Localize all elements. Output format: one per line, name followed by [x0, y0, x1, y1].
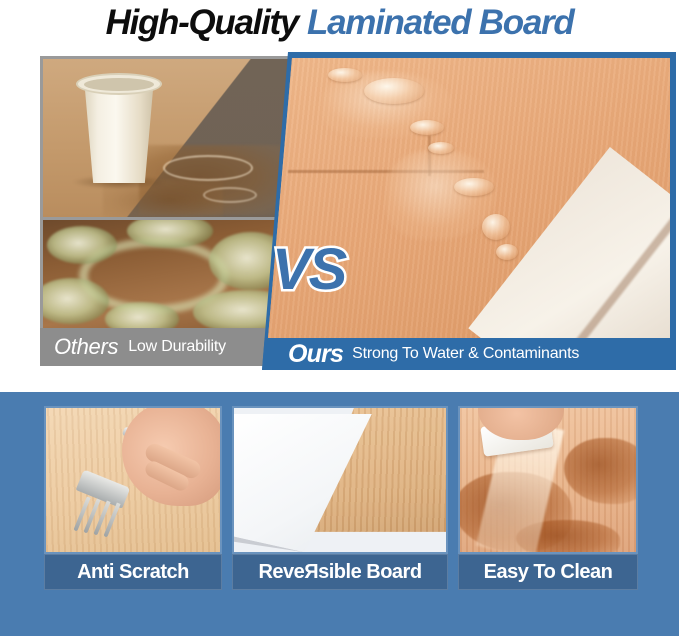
page-title-part-1: High-Quality: [106, 3, 298, 43]
versus-label: VS: [272, 236, 345, 303]
others-subtitle: Low Durability: [128, 338, 226, 356]
ours-subtitle: Strong To Water & Contaminants: [352, 345, 579, 363]
spill-highlight-graphic: [163, 155, 253, 181]
feature-caption-reversible-board: ReveЯsible Board: [232, 554, 448, 590]
feature-card-easy-to-clean: Easy To Clean: [458, 406, 638, 592]
features-section: Anti Scratch ReveЯsible Board Easy To Cl…: [0, 392, 679, 636]
water-droplet-graphic: [454, 178, 494, 196]
others-title: Others: [54, 334, 118, 360]
water-droplet-graphic: [428, 142, 454, 154]
spill-highlight-secondary-graphic: [203, 187, 257, 203]
water-droplet-graphic: [410, 120, 444, 135]
water-droplet-graphic: [364, 78, 424, 104]
ours-panel: Ours Strong To Water & Contaminants: [262, 52, 676, 370]
water-droplet-graphic: [496, 244, 518, 260]
feature-image-reversible-board: [232, 406, 448, 554]
page-title-part-2: Laminated Board: [307, 3, 573, 43]
mold-patch-graphic: [47, 226, 117, 264]
feature-image-easy-to-clean: [458, 406, 638, 554]
feature-caption-easy-to-clean: Easy To Clean: [458, 554, 638, 590]
feature-card-anti-scratch: Anti Scratch: [44, 406, 222, 592]
others-mold-image: [43, 220, 289, 328]
ours-title: Ours: [288, 340, 343, 369]
feature-image-anti-scratch: [44, 406, 222, 554]
cup-rim-inner-graphic: [84, 78, 154, 91]
others-panel: Others Low Durability: [40, 56, 292, 366]
water-droplet-graphic: [482, 214, 510, 240]
comparison-section: Others Low Durability Ours Strong To Wat…: [0, 46, 679, 376]
others-spill-image: [43, 59, 289, 217]
page-title: High-Quality Laminated Board: [0, 0, 679, 46]
feature-card-reversible-board: ReveЯsible Board: [232, 406, 448, 592]
mold-patch-graphic: [43, 278, 109, 324]
mold-patch-graphic: [105, 302, 179, 328]
water-droplet-graphic: [328, 68, 362, 82]
feature-caption-anti-scratch: Anti Scratch: [44, 554, 222, 590]
ours-caption-bar: Ours Strong To Water & Contaminants: [262, 338, 676, 370]
others-caption-bar: Others Low Durability: [40, 328, 292, 366]
